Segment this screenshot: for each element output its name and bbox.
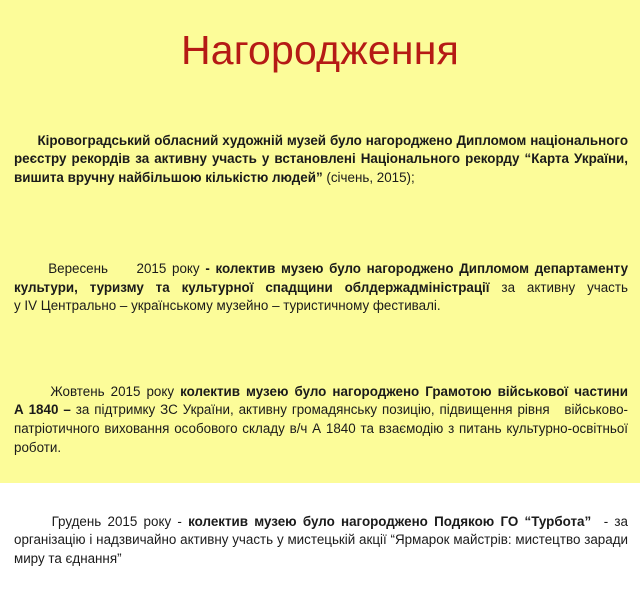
paragraph-award-3: Жовтень 2015 року колектив музею було на… bbox=[14, 364, 628, 494]
paragraph-4-run-bold: колектив музею було нагороджено Подякою … bbox=[188, 514, 591, 529]
slide-canvas: Нагородження Кіровоградський обласний ху… bbox=[0, 0, 640, 483]
paragraph-award-2: Вересень 2015 року - колектив музею було… bbox=[14, 242, 628, 354]
paragraph-award-1: Кіровоградський обласний художній музей … bbox=[14, 113, 628, 225]
paragraph-3-run-date: Жовтень 2015 року bbox=[50, 384, 180, 399]
paragraph-2-run-date: Вересень 2015 року bbox=[48, 261, 205, 276]
paragraph-4-run-date: Грудень 2015 року - bbox=[52, 514, 189, 529]
page-title: Нагородження bbox=[0, 0, 640, 72]
paragraph-award-4: Грудень 2015 року - колектив музею було … bbox=[14, 494, 628, 606]
paragraph-1-run-regular: (січень, 2015); bbox=[323, 170, 415, 185]
paragraph-3-run-tail: за підтримку ЗС України, активну громадя… bbox=[14, 402, 632, 454]
slide-body: Кіровоградський обласний художній музей … bbox=[14, 113, 628, 606]
